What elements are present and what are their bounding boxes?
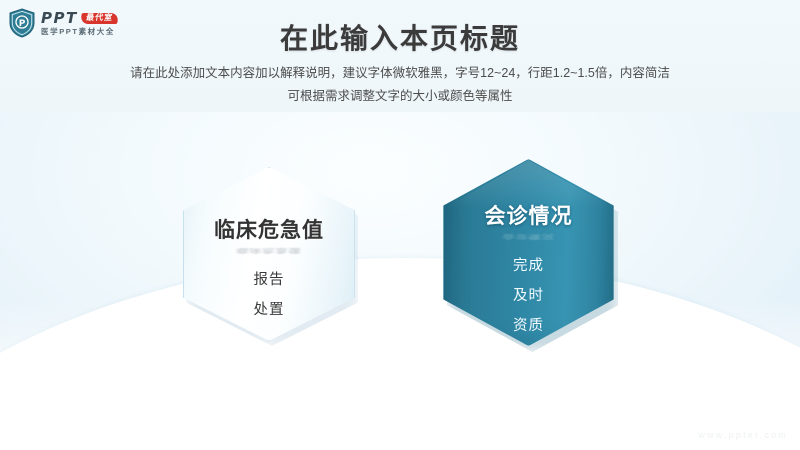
page-title: 在此输入本页标题 — [0, 17, 800, 57]
hexagon-right-item-0[interactable]: 完成 — [513, 254, 544, 275]
hexagon-right-item-2[interactable]: 资质 — [513, 314, 544, 335]
hexagon-right-title-reflection: 会诊情况 — [502, 232, 554, 241]
background-floor-curve — [0, 258, 800, 450]
page-subtitle: 请在此处添加文本内容加以解释说明，建议字体微软雅黑，字号12~24，行距1.2~… — [0, 62, 800, 108]
subtitle-line-1: 请在此处添加文本内容加以解释说明，建议字体微软雅黑，字号12~24，行距1.2~… — [0, 62, 800, 85]
hexagon-right-title: 会诊情况 — [485, 200, 573, 230]
hexagon-right-item-1[interactable]: 及时 — [513, 284, 544, 305]
hexagon-left-title: 临床危急值 — [214, 214, 324, 244]
hexagon-left-title-reflection: 临床危急值 — [236, 246, 301, 255]
slide-canvas: P PPT 最代室 医学PPT素材大全 在此输入本页标题 请在此处添加文本内容加… — [0, 0, 800, 450]
subtitle-line-2: 可根据需求调整文字的大小或颜色等属性 — [0, 85, 800, 108]
footer-watermark: www.ppter.com — [698, 430, 788, 440]
hexagon-left-item-1[interactable]: 处置 — [254, 298, 285, 319]
hexagon-left-item-0[interactable]: 报告 — [254, 268, 285, 289]
